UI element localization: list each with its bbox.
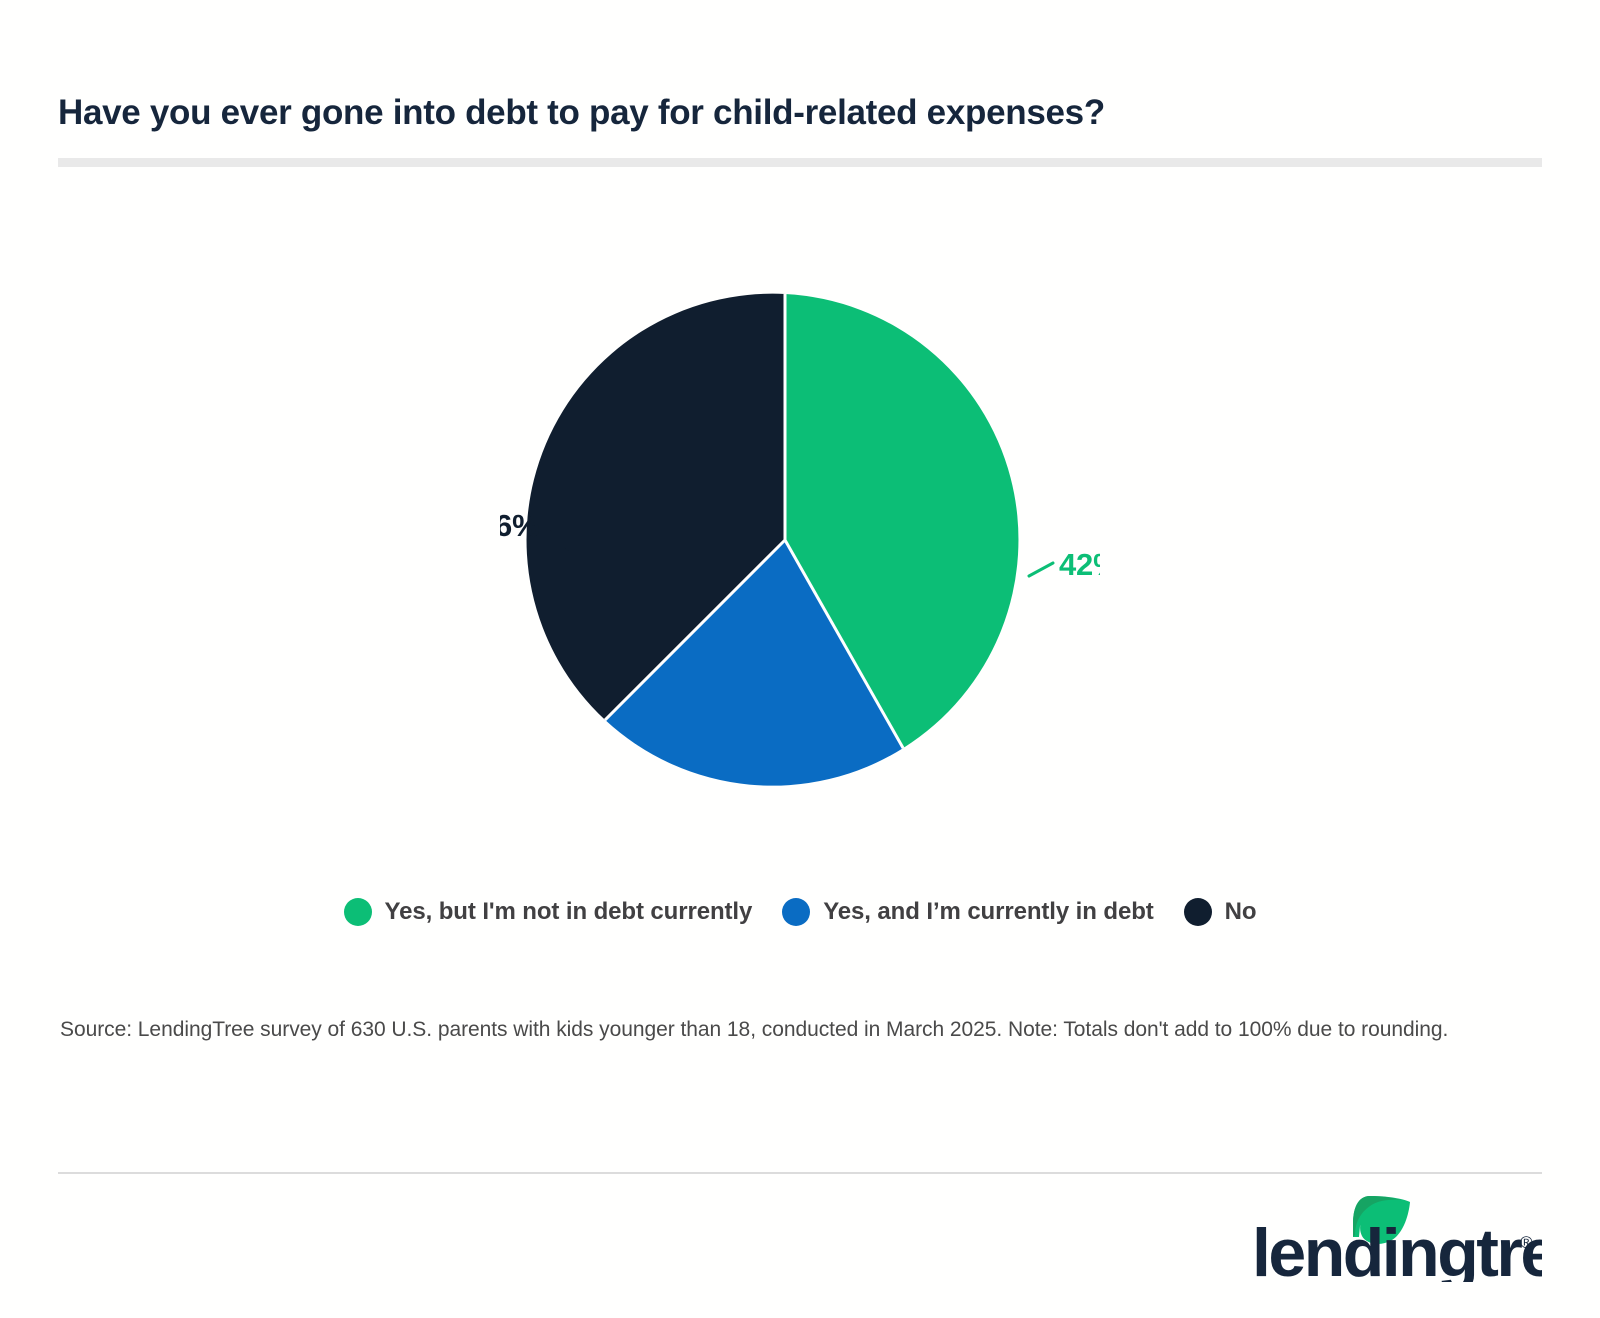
lendingtree-logo-svg: lendingtree ® bbox=[1252, 1190, 1542, 1282]
legend-item-yes-not-in-debt[interactable]: Yes, but I'm not in debt currently bbox=[344, 898, 753, 926]
lendingtree-logo[interactable]: lendingtree ® bbox=[1252, 1190, 1542, 1282]
page-title: Have you ever gone into debt to pay for … bbox=[58, 92, 1458, 134]
pie-chart-container: 42% 36% 21% bbox=[0, 180, 1600, 880]
title-divider bbox=[58, 158, 1542, 167]
pie-chart-svg: 42% 36% 21% bbox=[500, 280, 1100, 800]
footer-divider bbox=[58, 1172, 1542, 1174]
leader-line-42 bbox=[1029, 563, 1053, 576]
legend-item-no[interactable]: No bbox=[1184, 898, 1257, 926]
legend-swatch-green-icon bbox=[344, 898, 372, 926]
legend-label-yes-in-debt: Yes, and I’m currently in debt bbox=[823, 898, 1153, 926]
legend-label-yes-not-in-debt: Yes, but I'm not in debt currently bbox=[385, 898, 753, 926]
logo-wordmark: lendingtree bbox=[1252, 1215, 1542, 1282]
legend-swatch-navy-icon bbox=[1184, 898, 1212, 926]
slice-label-42: 42% bbox=[1059, 547, 1100, 582]
legend-label-no: No bbox=[1225, 898, 1257, 926]
source-note: Source: LendingTree survey of 630 U.S. p… bbox=[60, 1012, 1510, 1049]
legend-item-yes-in-debt[interactable]: Yes, and I’m currently in debt bbox=[782, 898, 1153, 926]
pie-chart: 42% 36% 21% bbox=[500, 280, 1100, 800]
infographic-page: Have you ever gone into debt to pay for … bbox=[0, 0, 1600, 1318]
legend-swatch-blue-icon bbox=[782, 898, 810, 926]
logo-trademark: ® bbox=[1520, 1233, 1533, 1252]
slice-label-36: 36% bbox=[500, 508, 539, 543]
chart-legend: Yes, but I'm not in debt currently Yes, … bbox=[0, 898, 1600, 926]
